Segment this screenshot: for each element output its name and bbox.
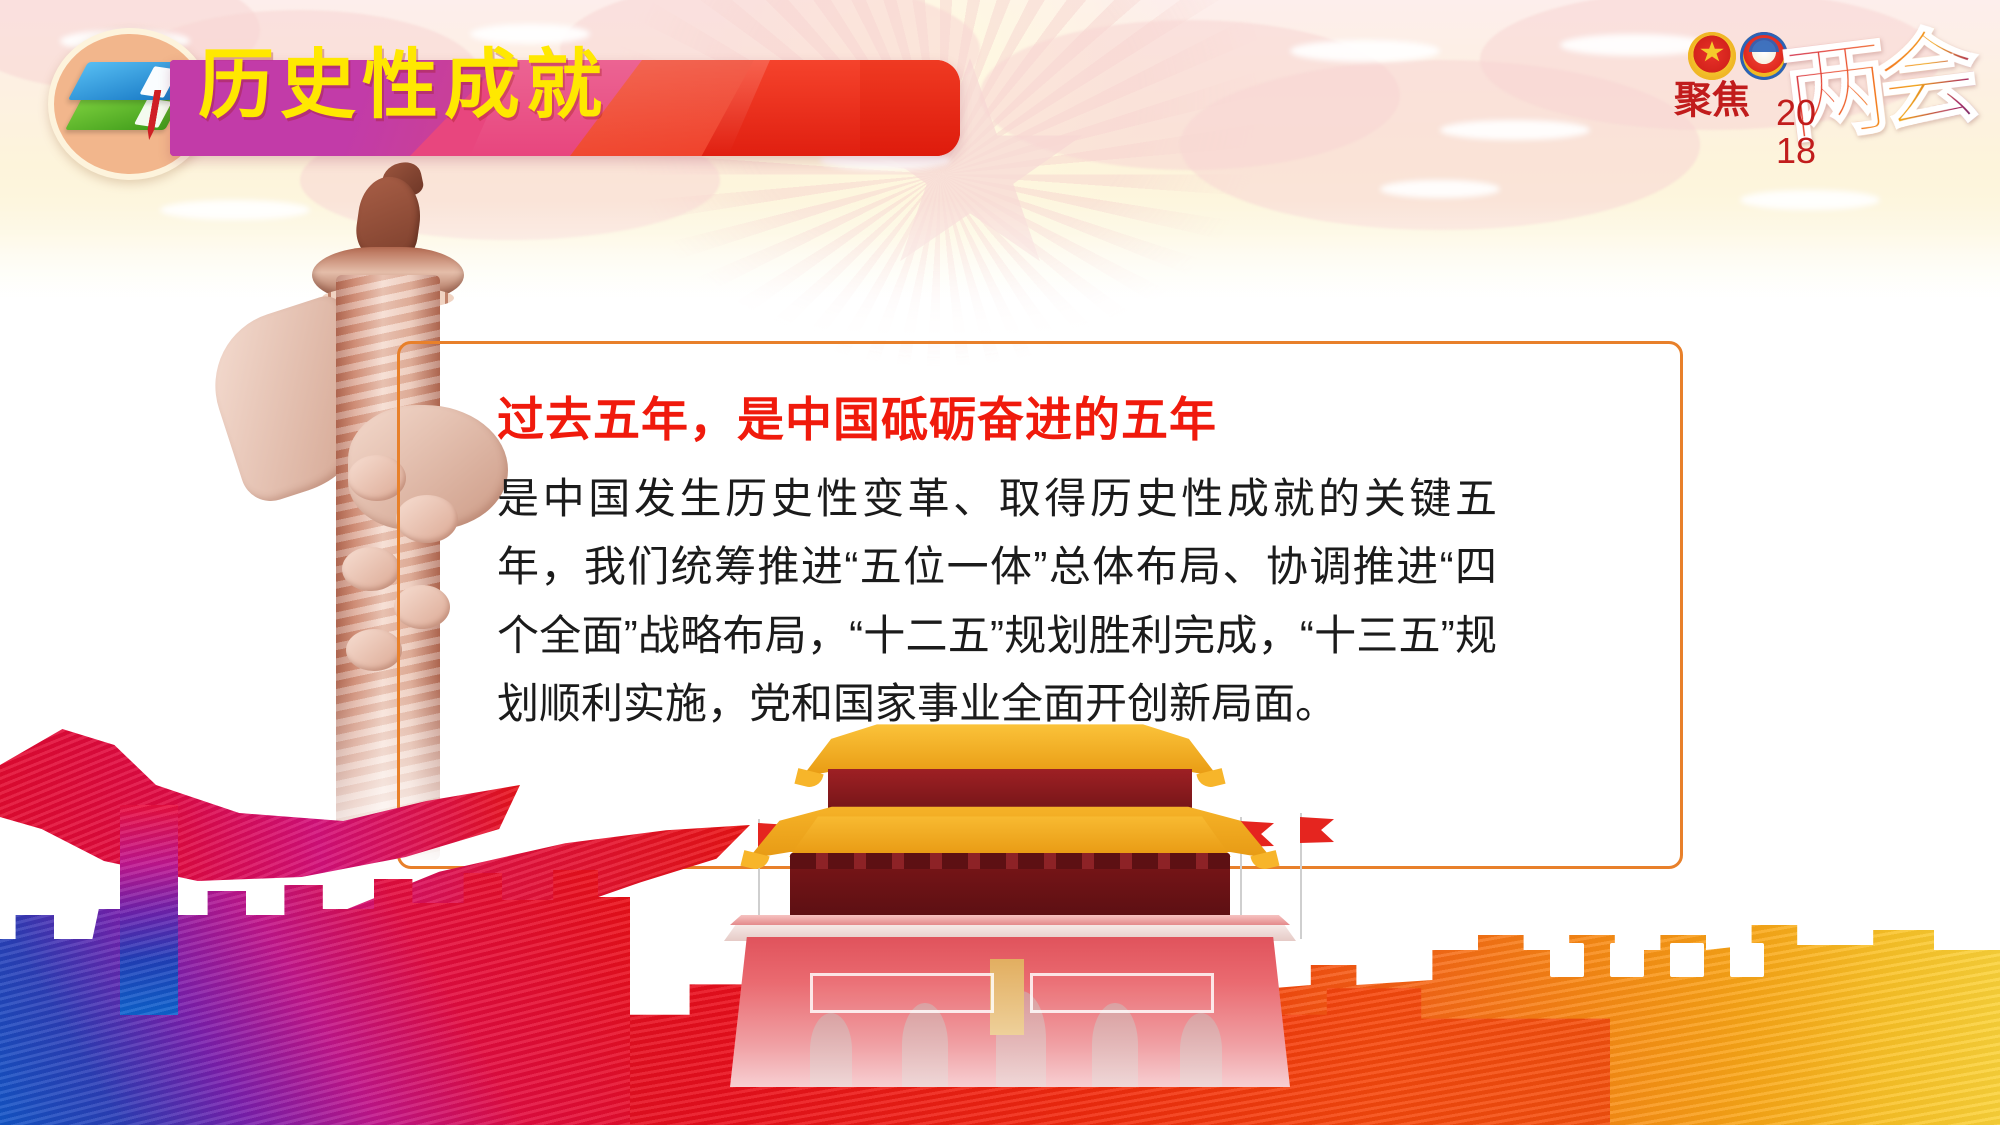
content-body: 是中国发生历史性变革、取得历史性成就的关键五年，我们统筹推进“五位一体”总体布局…: [497, 465, 1497, 737]
bottom-artwork: [0, 705, 2000, 1125]
page-title: 历史性成就: [198, 48, 608, 124]
focus-label: 聚焦: [1674, 82, 1792, 121]
content-heading: 过去五年，是中国砥砺奋进的五年: [497, 392, 1497, 447]
slide-root: 历史性成就 两会 聚焦 2018 过去五年，是中国砥砺奋进的五年 是中国发生历史…: [0, 0, 2000, 1125]
great-wall-left-tower: [120, 805, 178, 1015]
content-card-text: 过去五年，是中国砥砺奋进的五年 是中国发生历史性变革、取得历史性成就的关键五年，…: [497, 392, 1497, 738]
focus-year: 2018: [1776, 94, 1834, 170]
national-emblem-icon: [1688, 32, 1736, 80]
lianghui-logo: 两会 聚焦 2018: [1664, 22, 1974, 182]
tiananmen-gate: [700, 747, 1320, 1087]
